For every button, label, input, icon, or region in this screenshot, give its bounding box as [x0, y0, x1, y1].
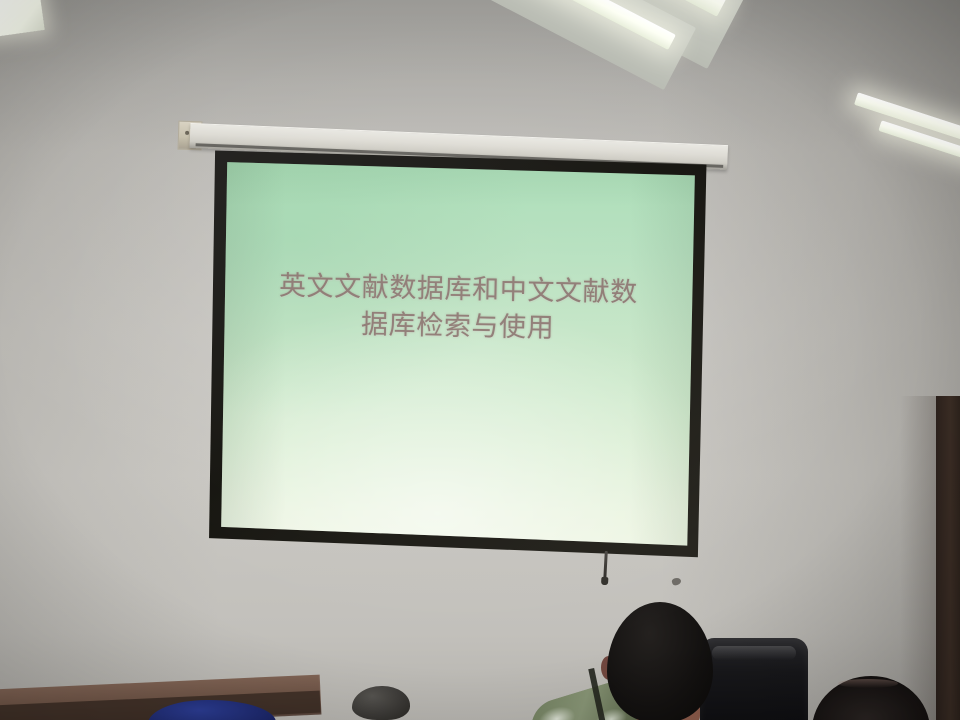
leather-chair-highlight — [712, 646, 796, 660]
right-dark-panel — [936, 396, 960, 720]
person-right-hair-highlight — [838, 679, 898, 688]
classroom-photo-scene: Redleaf 英文文献数据库和中文文献数 据库检索与使用 — [0, 0, 960, 720]
foreground-dark-object — [352, 686, 410, 720]
right-panel-shadow — [900, 396, 938, 720]
slide-title: 英文文献数据库和中文文献数 据库检索与使用 — [237, 268, 678, 350]
screen-pull-cord[interactable] — [603, 551, 608, 581]
projection-screen-surface — [205, 148, 710, 563]
projection-screen-assembly: Redleaf 英文文献数据库和中文文献数 据库检索与使用 — [0, 0, 960, 720]
